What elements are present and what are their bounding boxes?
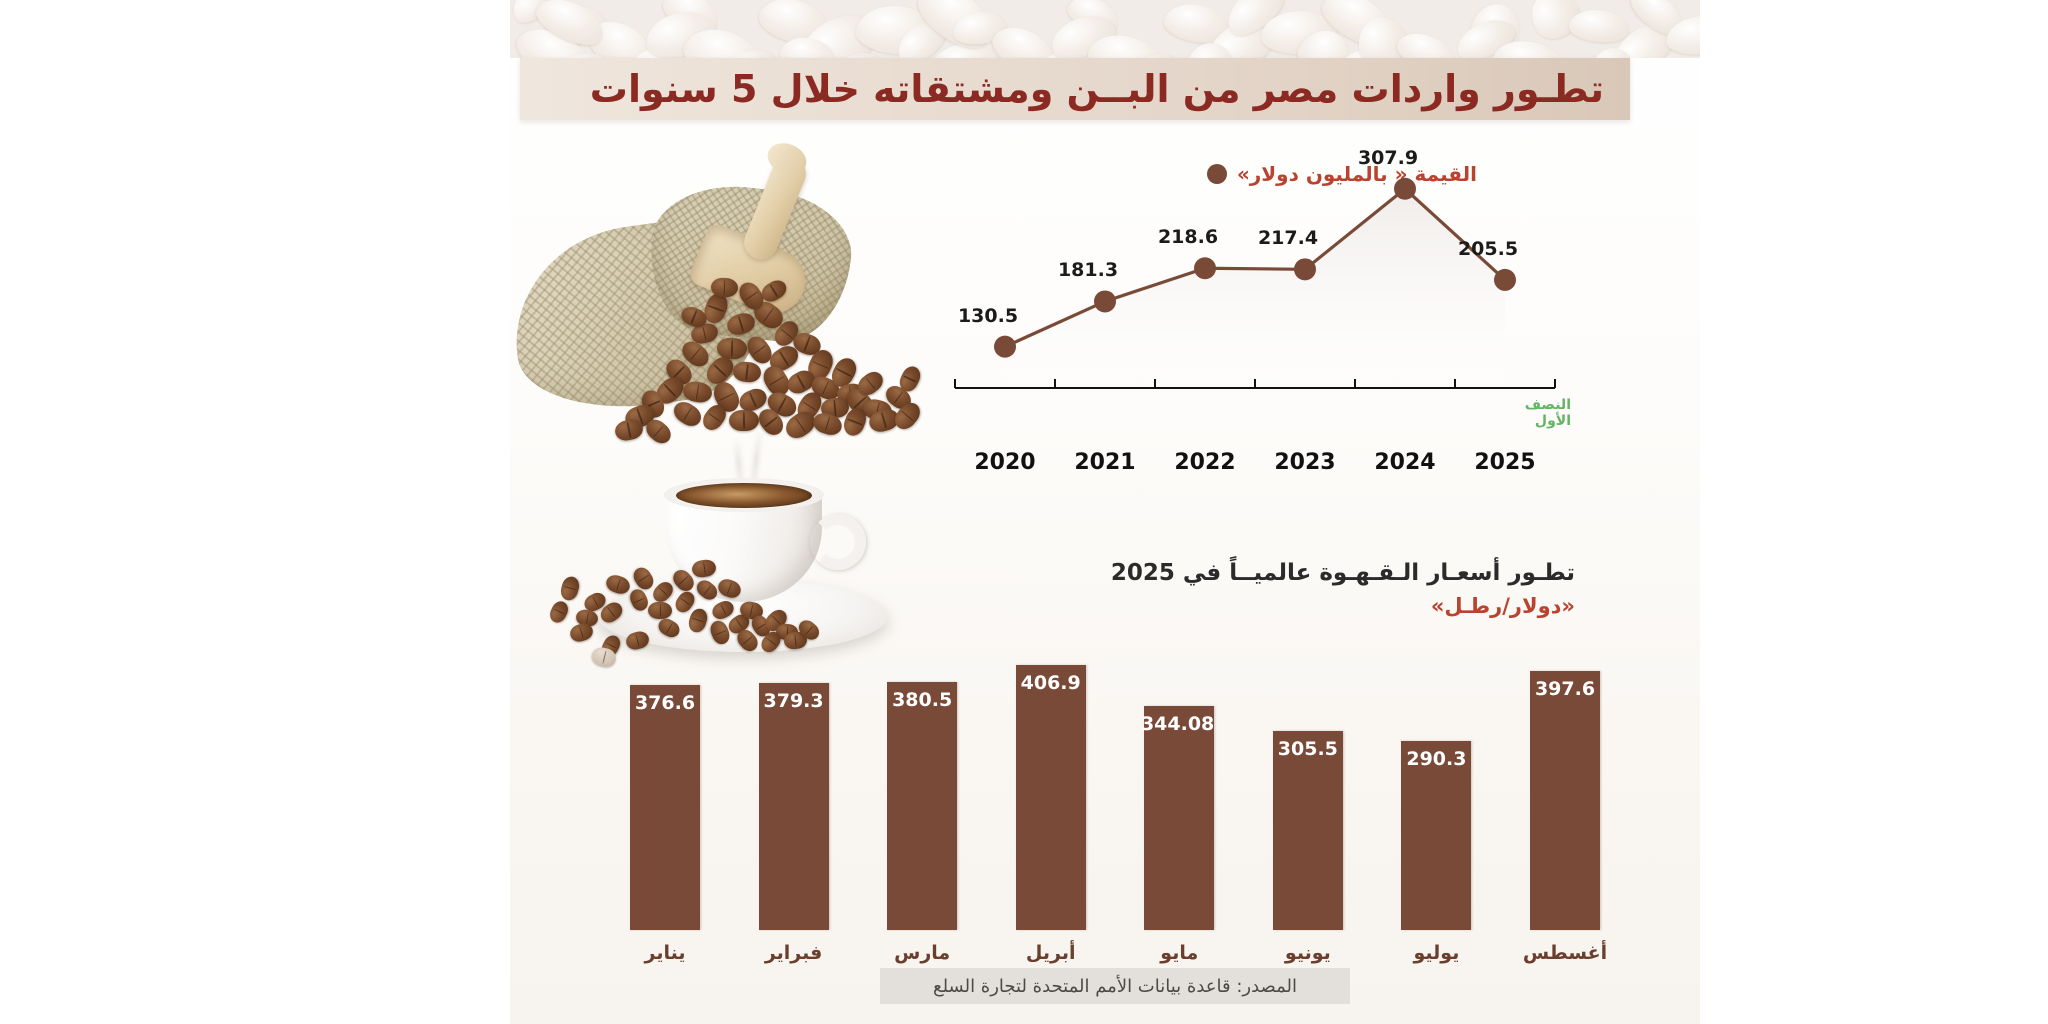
bar-column: 397.6أغسطس bbox=[1530, 650, 1600, 930]
line-point-label: 218.6 bbox=[1153, 226, 1223, 248]
bar-value-label: 380.5 bbox=[887, 689, 957, 711]
bar-value-label: 397.6 bbox=[1530, 678, 1600, 700]
bar-column: 376.6يناير bbox=[630, 650, 700, 930]
bar-column: 380.5مارس bbox=[887, 650, 957, 930]
bar-value-label: 379.3 bbox=[759, 690, 829, 712]
bar-rect: 397.6 bbox=[1530, 671, 1600, 930]
bar-rect: 344.08 bbox=[1144, 706, 1214, 930]
source-text: المصدر: قاعدة بيانات الأمم المتحدة لتجار… bbox=[933, 976, 1297, 997]
bar-month-label: فبراير bbox=[746, 942, 842, 964]
bar-rect: 380.5 bbox=[887, 682, 957, 930]
bar-month-label: مارس bbox=[874, 942, 970, 964]
line-point-label: 130.5 bbox=[953, 305, 1023, 327]
bar-chart-subtitle: «دولار/رطـل» bbox=[935, 594, 1575, 618]
bar-rect: 305.5 bbox=[1273, 731, 1343, 930]
bar-column: 305.5يونيو bbox=[1273, 650, 1343, 930]
x-axis-year-label: 2022 bbox=[1155, 450, 1255, 475]
x-axis-year-label: 2021 bbox=[1055, 450, 1155, 475]
bar-rect: 379.3 bbox=[759, 683, 829, 930]
first-half-note: النصف الأول bbox=[1525, 398, 1571, 429]
bar-rect: 290.3 bbox=[1401, 741, 1471, 930]
bar-value-label: 290.3 bbox=[1401, 748, 1471, 770]
first-half-note-line1: النصف bbox=[1525, 398, 1571, 414]
bar-month-label: يناير bbox=[617, 942, 713, 964]
coffee-bean-texture-band bbox=[510, 0, 1700, 58]
bar-rect: 406.9 bbox=[1016, 665, 1086, 930]
coffee-sack-illustration bbox=[505, 148, 965, 438]
coffee-prices-bar-chart: 376.6يناير379.3فبراير380.5مارس406.9أبريل… bbox=[630, 640, 1600, 930]
bar-column: 290.3يوليو bbox=[1401, 650, 1471, 930]
x-axis-year-label: 2020 bbox=[955, 450, 1055, 475]
first-half-note-line2: الأول bbox=[1525, 414, 1571, 430]
coffee-liquid-surface bbox=[676, 483, 812, 508]
bar-rect: 376.6 bbox=[630, 685, 700, 930]
bar-chart-title: تطـور أسعـار الـقـهـوة عالميــاً في 2025 bbox=[935, 560, 1575, 588]
line-chart-plot bbox=[935, 160, 1575, 460]
source-bar: المصدر: قاعدة بيانات الأمم المتحدة لتجار… bbox=[880, 968, 1350, 1004]
bar-month-label: يونيو bbox=[1260, 942, 1356, 964]
title-banner: تطـور واردات مصر من البــن ومشتقاته خلال… bbox=[520, 58, 1630, 120]
line-point-label: 205.5 bbox=[1453, 238, 1523, 260]
page-title: تطـور واردات مصر من البــن ومشتقاته خلال… bbox=[590, 70, 1604, 108]
line-point-label: 181.3 bbox=[1053, 259, 1123, 281]
bar-chart-heading: تطـور أسعـار الـقـهـوة عالميــاً في 2025… bbox=[935, 560, 1575, 618]
bar-column: 406.9أبريل bbox=[1016, 650, 1086, 930]
bar-month-label: أبريل bbox=[1003, 942, 1099, 964]
bar-value-label: 305.5 bbox=[1273, 738, 1343, 760]
bar-month-label: مايو bbox=[1131, 942, 1227, 964]
bar-column: 344.08مايو bbox=[1144, 650, 1214, 930]
x-axis-year-label: 2025 bbox=[1455, 450, 1555, 475]
cup-handle bbox=[810, 514, 866, 570]
bar-column: 379.3فبراير bbox=[759, 650, 829, 930]
infographic-canvas: تطـور واردات مصر من البــن ومشتقاته خلال… bbox=[0, 0, 2048, 1024]
bar-value-label: 376.6 bbox=[630, 692, 700, 714]
bar-value-label: 344.08 bbox=[1144, 713, 1214, 735]
imports-line-chart: القيمة « بالمليون دولار» 130.5181.3218.6… bbox=[935, 160, 1575, 505]
x-axis-year-label: 2023 bbox=[1255, 450, 1355, 475]
line-point-label: 217.4 bbox=[1253, 227, 1323, 249]
bar-value-label: 406.9 bbox=[1016, 672, 1086, 694]
bar-month-label: أغسطس bbox=[1517, 942, 1613, 964]
x-axis-year-label: 2024 bbox=[1355, 450, 1455, 475]
line-point-label: 307.9 bbox=[1353, 147, 1423, 169]
bar-month-label: يوليو bbox=[1388, 942, 1484, 964]
